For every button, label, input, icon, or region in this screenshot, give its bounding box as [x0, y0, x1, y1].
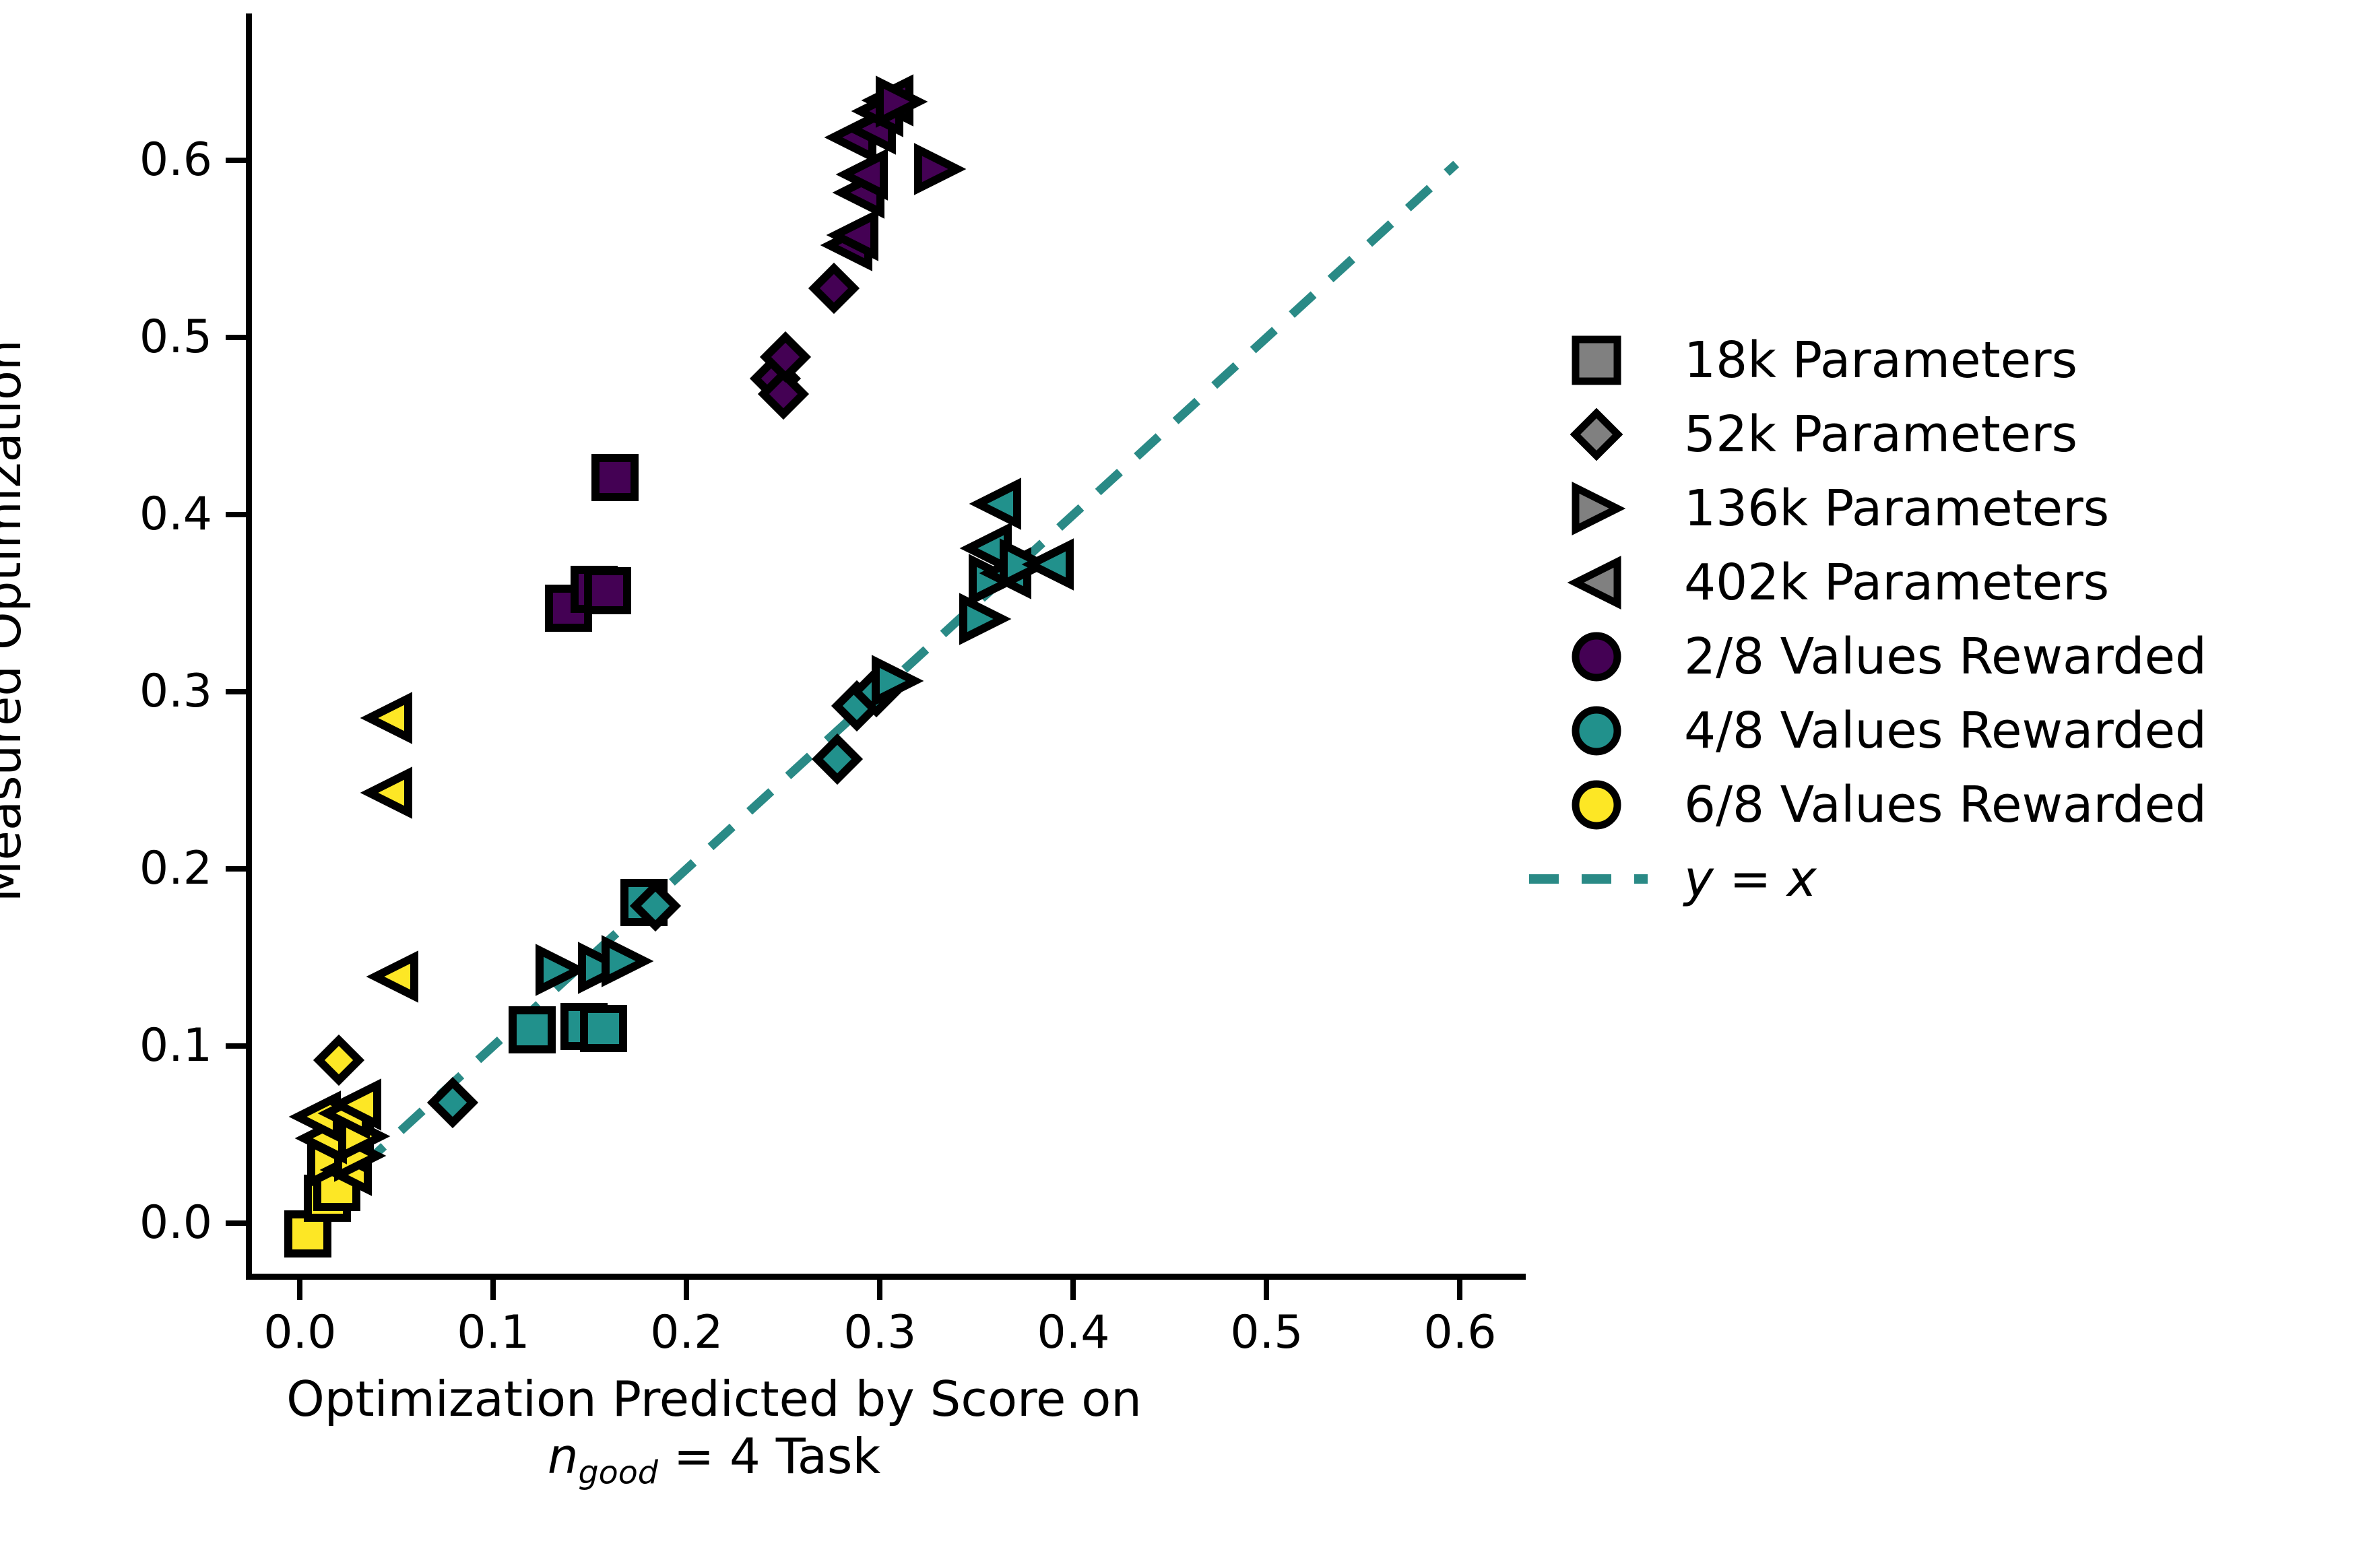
plot-area: 0.00.10.20.30.40.50.6 0.00.10.20.30.40.5… [246, 13, 1526, 1280]
y-tick-label: 0.0 [44, 1200, 212, 1246]
y-tick-label: 0.5 [44, 315, 212, 360]
x-tick-label: 0.1 [406, 1310, 581, 1356]
y-tick [226, 512, 246, 517]
x-axis-label-suffix: = 4 Task [658, 1428, 880, 1484]
y-tick [226, 1220, 246, 1226]
data-point [970, 476, 1025, 531]
data-point [367, 949, 422, 1004]
y-tick-label: 0.6 [44, 137, 212, 183]
legend-marker-triangle-left [1549, 546, 1644, 620]
x-tick-label: 0.6 [1372, 1310, 1547, 1356]
legend-entry[interactable]: y = x [1549, 842, 2344, 916]
x-tick [1070, 1280, 1076, 1300]
data-point [872, 74, 927, 129]
data-point [580, 563, 635, 618]
data-point [1023, 537, 1078, 592]
x-tick [297, 1280, 302, 1300]
data-point [425, 1075, 480, 1130]
legend-label: 52k Parameters [1684, 410, 2077, 459]
legend-marker-triangle-right [1549, 471, 1644, 546]
y-tick [226, 1043, 246, 1049]
x-tick [684, 1280, 689, 1300]
x-tick [877, 1280, 882, 1300]
legend-label: 6/8 Values Rewarded [1684, 780, 2207, 830]
x-tick-label: 0.0 [212, 1310, 387, 1356]
legend-label: y = x [1684, 854, 1817, 904]
data-point [758, 329, 813, 385]
legend-entry[interactable]: 136k Parameters [1549, 471, 2344, 546]
legend-label: 4/8 Values Rewarded [1684, 706, 2207, 756]
legend-entry[interactable]: 18k Parameters [1549, 323, 2344, 397]
legend-entry[interactable]: 4/8 Values Rewarded [1549, 694, 2344, 768]
legend-entry[interactable]: 6/8 Values Rewarded [1549, 768, 2344, 842]
data-point [597, 934, 653, 989]
data-point [587, 450, 643, 505]
y-axis-spine [246, 13, 252, 1280]
y-axis-label: Measured Optimization [0, 217, 32, 1025]
figure-canvas: 0.00.10.20.30.40.50.6 0.00.10.20.30.40.5… [0, 0, 2359, 1568]
x-tick [1264, 1280, 1269, 1300]
data-point [361, 765, 416, 820]
legend-marker-circle [1549, 620, 1644, 694]
x-axis-label-line2: ngood = 4 Task [202, 1428, 1226, 1492]
legend-entry[interactable]: 52k Parameters [1549, 397, 2344, 471]
y-tick-label: 0.2 [44, 846, 212, 892]
data-point [505, 1002, 560, 1057]
x-tick [490, 1280, 496, 1300]
legend-label: 402k Parameters [1684, 558, 2109, 608]
x-tick-label: 0.4 [985, 1310, 1161, 1356]
y-tick-label: 0.1 [44, 1023, 212, 1069]
y-tick-label: 0.3 [44, 669, 212, 715]
legend-label: 2/8 Values Rewarded [1684, 632, 2207, 682]
legend-marker-square [1549, 323, 1644, 397]
data-point [810, 731, 865, 787]
legend-marker-circle [1549, 768, 1644, 842]
legend: 18k Parameters52k Parameters136k Paramet… [1549, 323, 2344, 916]
x-tick-label: 0.2 [599, 1310, 774, 1356]
data-point [910, 141, 965, 197]
y-tick [226, 866, 246, 872]
legend-label: 18k Parameters [1684, 335, 2077, 385]
x-tick-label: 0.3 [792, 1310, 967, 1356]
legend-marker-circle [1549, 694, 1644, 768]
legend-label: 136k Parameters [1684, 484, 2109, 533]
x-axis-label-variable: n [548, 1428, 579, 1484]
x-tick [1457, 1280, 1462, 1300]
x-axis-label: Optimization Predicted by Score on ngood… [202, 1371, 1226, 1492]
y-tick [226, 158, 246, 163]
x-tick-label: 0.5 [1179, 1310, 1354, 1356]
legend-marker-diamond [1549, 397, 1644, 471]
data-point [628, 878, 683, 934]
x-axis-label-subscript: good [578, 1454, 657, 1491]
y-tick-label: 0.4 [44, 492, 212, 537]
data-point [576, 1001, 631, 1056]
y-tick [226, 689, 246, 694]
legend-entry[interactable]: 402k Parameters [1549, 546, 2344, 620]
legend-dashed-line-swatch [1541, 842, 1636, 916]
y-tick [226, 335, 246, 340]
x-axis-label-line1: Optimization Predicted by Score on [286, 1371, 1142, 1427]
legend-entry[interactable]: 2/8 Values Rewarded [1549, 620, 2344, 694]
data-point [361, 690, 416, 746]
x-axis-spine [246, 1274, 1526, 1280]
data-point [311, 1033, 366, 1088]
data-point [868, 653, 923, 709]
